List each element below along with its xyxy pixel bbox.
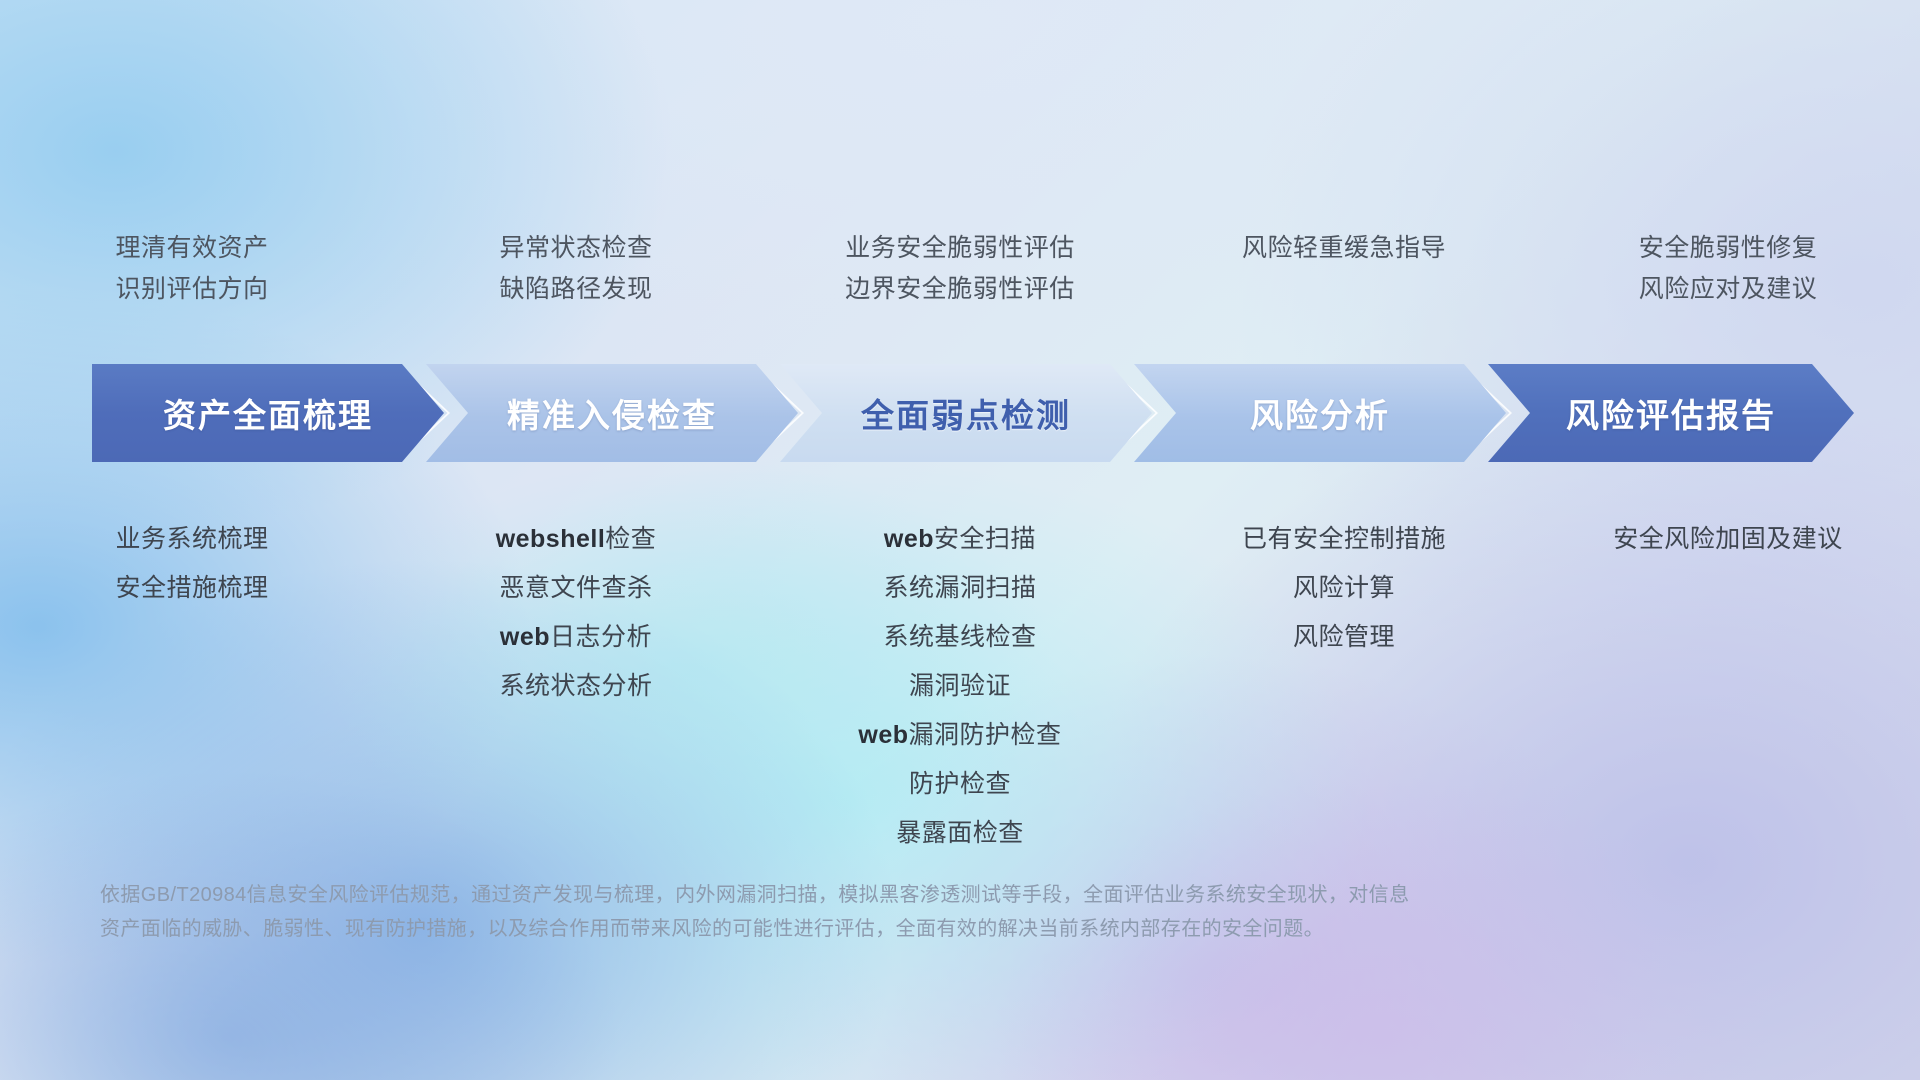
bottom-column-2: webshell检查恶意文件查杀web日志分析系统状态分析 [384,515,768,711]
bottom-column-5: 安全风险加固及建议 [1536,515,1920,564]
top-column-3: 业务安全脆弱性评估边界安全脆弱性评估 [768,228,1152,310]
top-item: 风险轻重缓急指导 [1152,228,1536,269]
top-descriptor-band: 理清有效资产识别评估方向异常状态检查缺陷路径发现业务安全脆弱性评估边界安全脆弱性… [0,228,1920,310]
top-item: 理清有效资产 [0,228,384,269]
chevron-stage-label: 风险分析 [1250,389,1390,437]
bottom-column-4: 已有安全控制措施风险计算风险管理 [1152,515,1536,662]
bottom-item: 安全风险加固及建议 [1536,515,1920,564]
top-column-4: 风险轻重缓急指导 [1152,228,1536,310]
top-item: 业务安全脆弱性评估 [768,228,1152,269]
bottom-item: 风险计算 [1152,564,1536,613]
top-item: 识别评估方向 [0,269,384,310]
bottom-column-3: web安全扫描系统漏洞扫描系统基线检查漏洞验证web漏洞防护检查防护检查暴露面检… [768,515,1152,858]
chevron-stage-2[interactable]: 精准入侵检查 [426,364,798,462]
bottom-item: 漏洞验证 [768,662,1152,711]
top-item: 安全脆弱性修复 [1536,228,1920,269]
footer-line-2: 资产面临的威胁、脆弱性、现有防护措施，以及综合作用而带来风险的可能性进行评估，全… [100,912,1700,946]
bottom-column-1: 业务系统梳理安全措施梳理 [0,515,384,613]
process-diagram: 理清有效资产识别评估方向异常状态检查缺陷路径发现业务安全脆弱性评估边界安全脆弱性… [0,0,1920,1080]
top-item: 边界安全脆弱性评估 [768,269,1152,310]
bottom-item: 业务系统梳理 [0,515,384,564]
bottom-item: 暴露面检查 [768,809,1152,858]
bottom-item: 已有安全控制措施 [1152,515,1536,564]
top-item: 风险应对及建议 [1536,269,1920,310]
chevron-stage-label: 精准入侵检查 [507,389,717,437]
bottom-item: 系统基线检查 [768,613,1152,662]
bottom-item: 风险管理 [1152,613,1536,662]
bottom-item-keyword: web [884,525,934,553]
chevron-stage-label: 风险评估报告 [1566,389,1776,437]
footer-line-1: 依据GB/T20984信息安全风险评估规范，通过资产发现与梳理，内外网漏洞扫描，… [100,878,1700,912]
top-column-2: 异常状态检查缺陷路径发现 [384,228,768,310]
bottom-item: 系统状态分析 [384,662,768,711]
bottom-detail-band: 业务系统梳理安全措施梳理webshell检查恶意文件查杀web日志分析系统状态分… [0,515,1920,858]
top-column-1: 理清有效资产识别评估方向 [0,228,384,310]
top-item: 异常状态检查 [384,228,768,269]
bottom-item-keyword: web [858,721,908,749]
bottom-item-text: 漏洞防护检查 [909,721,1062,749]
bottom-item-text: 安全扫描 [934,525,1036,553]
bottom-item-text: 日志分析 [550,623,652,651]
top-column-5: 安全脆弱性修复风险应对及建议 [1536,228,1920,310]
bottom-item-text: 检查 [605,525,656,553]
chevron-stage-3[interactable]: 全面弱点检测 [780,364,1152,462]
top-item: 缺陷路径发现 [384,269,768,310]
bottom-item: 恶意文件查杀 [384,564,768,613]
bottom-item-keyword: webshell [496,525,606,553]
bottom-item: web漏洞防护检查 [768,711,1152,760]
bottom-item: 安全措施梳理 [0,564,384,613]
chevron-stage-4[interactable]: 风险分析 [1134,364,1506,462]
chevron-stage-label: 全面弱点检测 [861,389,1071,437]
footer-description: 依据GB/T20984信息安全风险评估规范，通过资产发现与梳理，内外网漏洞扫描，… [100,878,1700,946]
bottom-item: 系统漏洞扫描 [768,564,1152,613]
chevron-stage-1[interactable]: 资产全面梳理 [92,364,444,462]
bottom-item: 防护检查 [768,760,1152,809]
bottom-item: webshell检查 [384,515,768,564]
chevron-stage-band: 资产全面梳理精准入侵检查全面弱点检测风险分析风险评估报告 [92,364,1854,462]
bottom-item: web日志分析 [384,613,768,662]
chevron-stage-label: 资产全面梳理 [163,389,373,437]
chevron-stage-5[interactable]: 风险评估报告 [1488,364,1854,462]
bottom-item-keyword: web [500,623,550,651]
bottom-item: web安全扫描 [768,515,1152,564]
